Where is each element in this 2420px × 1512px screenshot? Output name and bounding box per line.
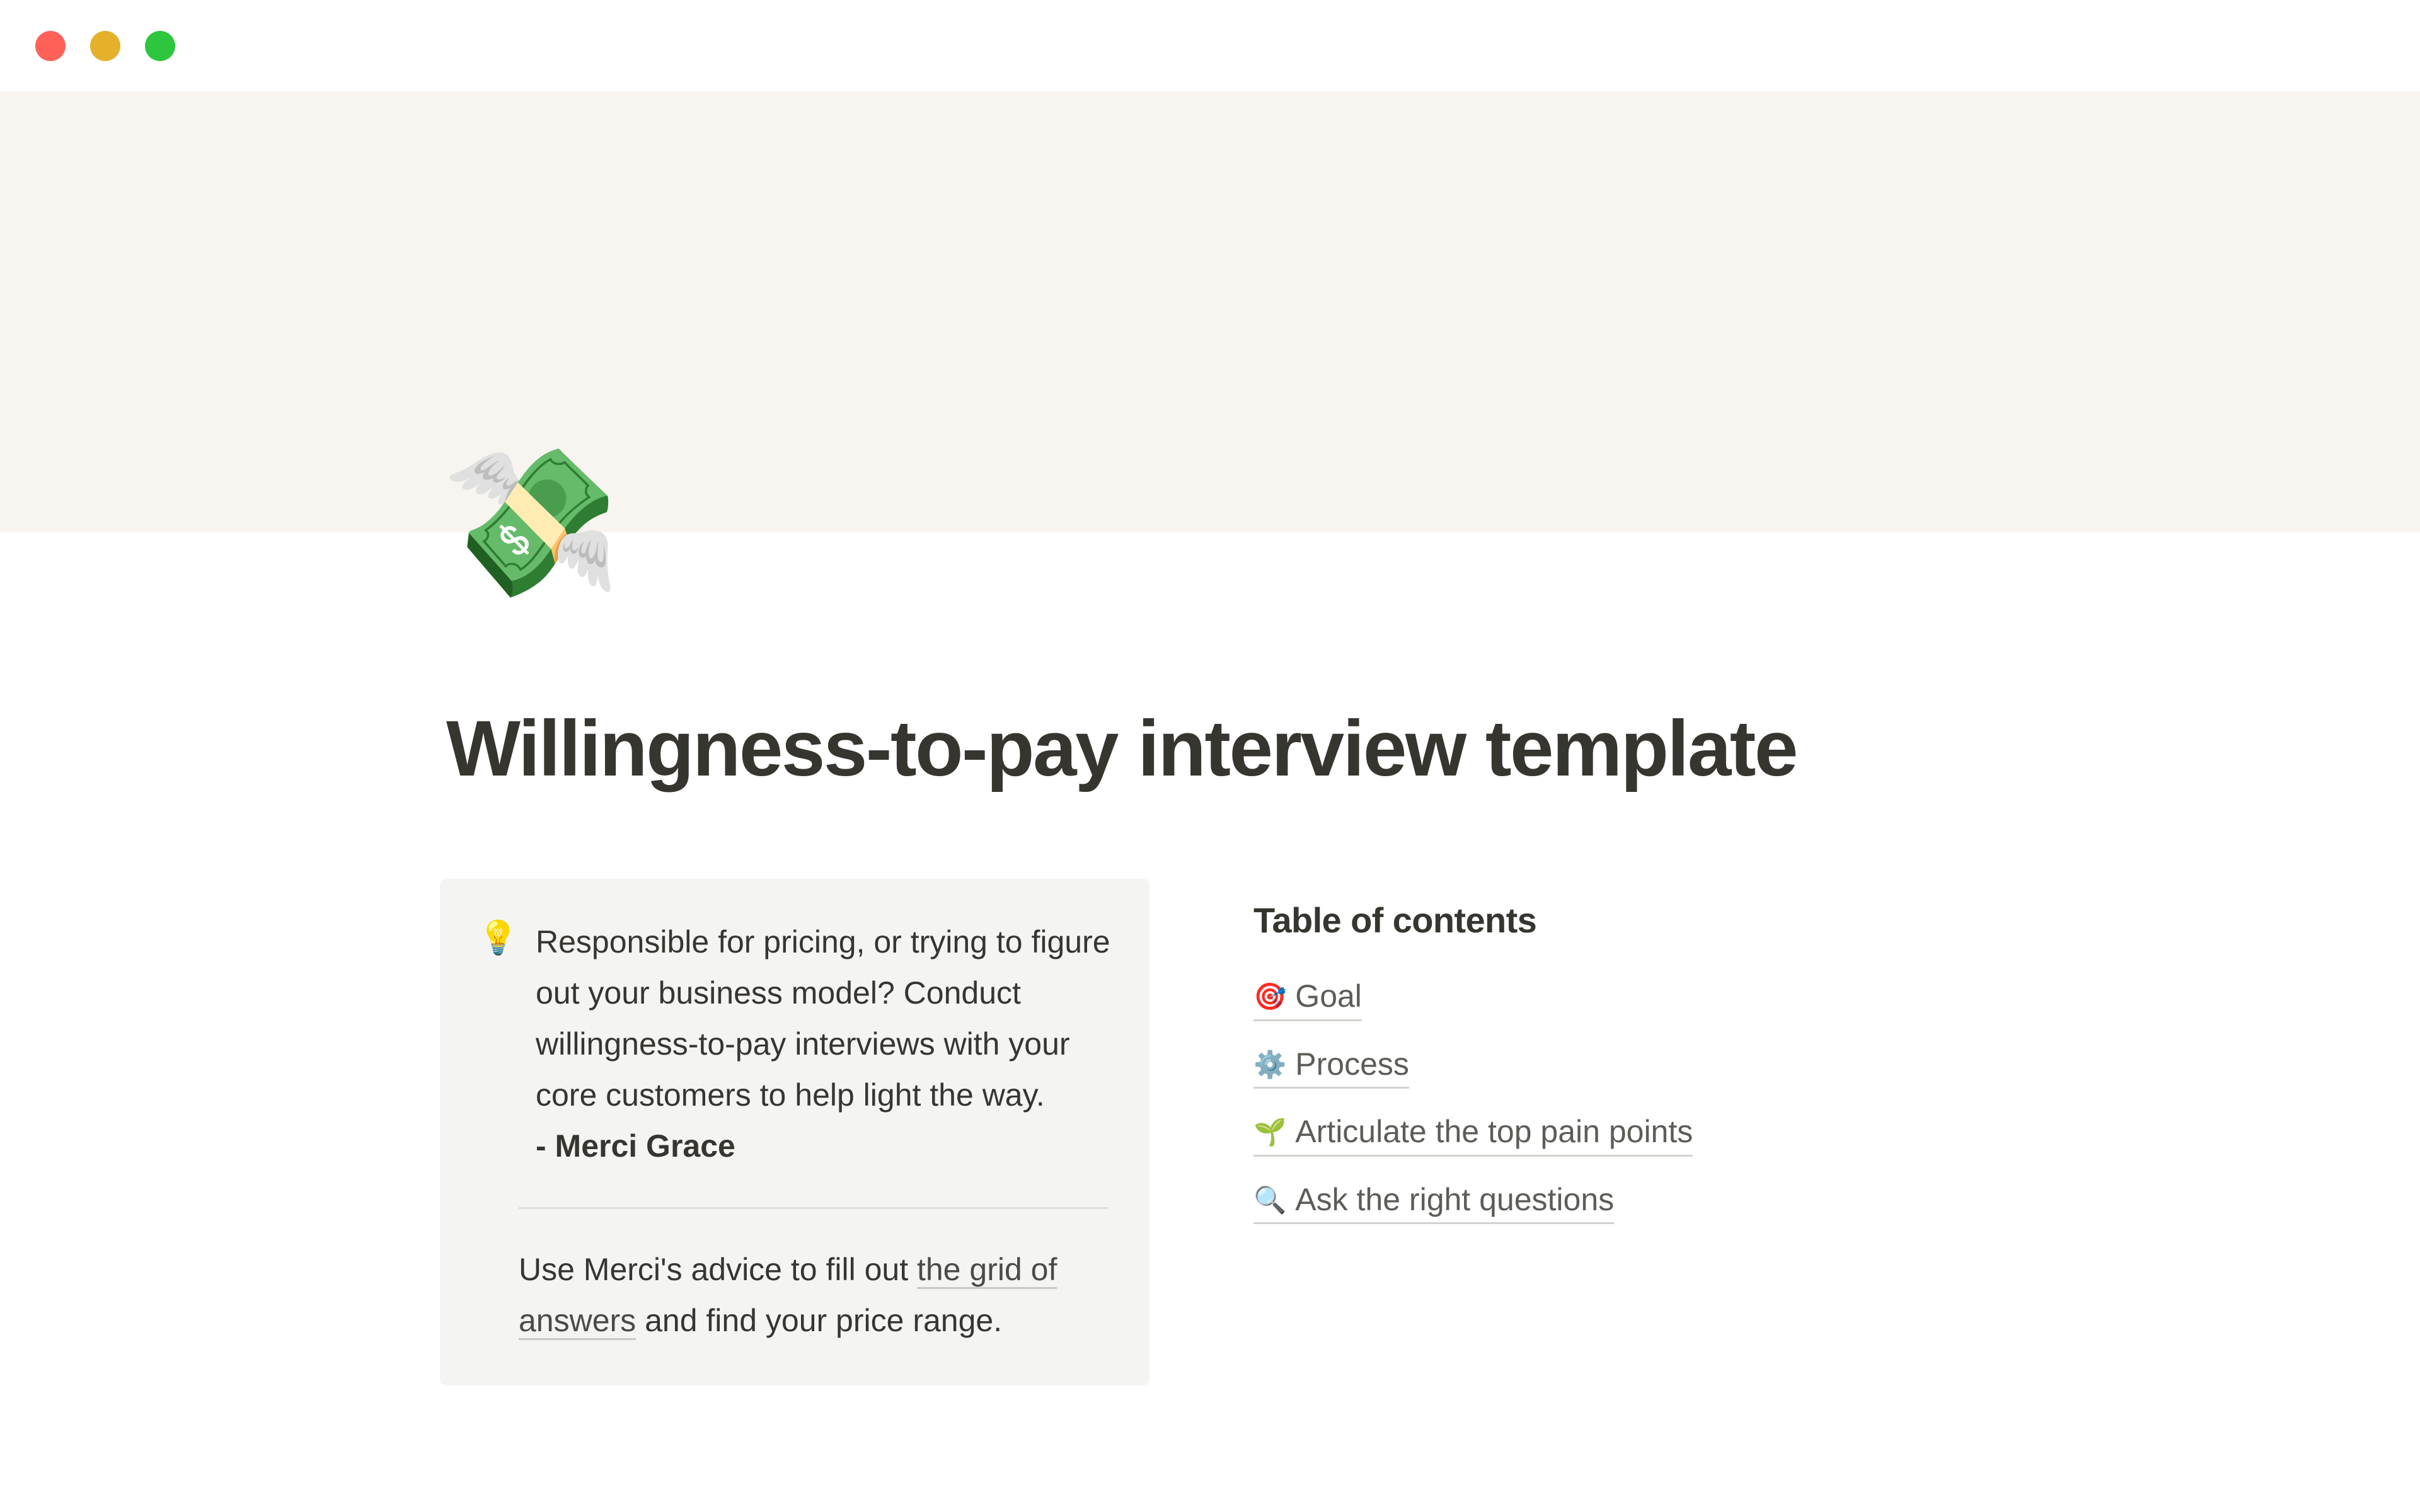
- target-icon: 🎯: [1253, 982, 1286, 1011]
- traffic-light-group: [35, 31, 175, 61]
- right-column: Table of contents 🎯Goal ⚙️Process 🌱Artic…: [1253, 879, 2420, 1247]
- toc-item-goal: 🎯Goal: [1253, 976, 2420, 1021]
- toc-label-right-questions: Ask the right questions: [1295, 1182, 1614, 1217]
- gear-icon: ⚙️: [1253, 1050, 1286, 1079]
- lightbulb-icon: 💡: [478, 917, 517, 959]
- window-titlebar: [0, 0, 2420, 91]
- toc-label-process: Process: [1295, 1046, 1409, 1082]
- page-icon[interactable]: 💸: [441, 444, 624, 602]
- toc-item-right-questions: 🔍Ask the right questions: [1253, 1180, 2420, 1225]
- toc-item-pain-points: 🌱Articulate the top pain points: [1253, 1112, 2420, 1157]
- callout-body-text: Responsible for pricing, or trying to fi…: [536, 917, 1112, 1172]
- page-cover-banner[interactable]: [0, 91, 2420, 532]
- callout-attribution: - Merci Grace: [536, 1121, 1112, 1172]
- toc-link-process[interactable]: ⚙️Process: [1253, 1045, 1409, 1089]
- magnifier-icon: 🔍: [1253, 1185, 1286, 1215]
- callout-footer-text: Use Merci's advice to fill out the grid …: [519, 1244, 1111, 1346]
- minimize-window-button[interactable]: [90, 31, 120, 61]
- close-window-button[interactable]: [35, 31, 66, 61]
- callout-top-row: 💡 Responsible for pricing, or trying to …: [478, 917, 1112, 1172]
- toc-heading: Table of contents: [1253, 899, 2420, 941]
- toc-link-right-questions[interactable]: 🔍Ask the right questions: [1253, 1180, 1614, 1225]
- app-window: 💸 Willingness-to-pay interview template …: [0, 0, 2420, 1512]
- toc-link-goal[interactable]: 🎯Goal: [1253, 976, 1362, 1021]
- callout-body-paragraph: Responsible for pricing, or trying to fi…: [536, 924, 1110, 1113]
- callout-footer-prefix: Use Merci's advice to fill out: [519, 1252, 917, 1287]
- left-column: 💡 Responsible for pricing, or trying to …: [440, 879, 1149, 1385]
- callout-block[interactable]: 💡 Responsible for pricing, or trying to …: [440, 879, 1149, 1385]
- content-columns: 💡 Responsible for pricing, or trying to …: [0, 879, 2420, 1385]
- seedling-icon: 🌱: [1253, 1117, 1286, 1147]
- page-title[interactable]: Willingness-to-pay interview template: [446, 706, 1797, 793]
- callout-divider: [519, 1207, 1108, 1209]
- toc-item-process: ⚙️Process: [1253, 1045, 2420, 1089]
- toc-link-pain-points[interactable]: 🌱Articulate the top pain points: [1253, 1112, 1693, 1157]
- maximize-window-button[interactable]: [145, 31, 175, 61]
- toc-list: 🎯Goal ⚙️Process 🌱Articulate the top pain…: [1253, 976, 2420, 1224]
- callout-footer-suffix: and find your price range.: [636, 1303, 1002, 1338]
- toc-label-goal: Goal: [1295, 978, 1362, 1014]
- toc-label-pain-points: Articulate the top pain points: [1295, 1114, 1693, 1149]
